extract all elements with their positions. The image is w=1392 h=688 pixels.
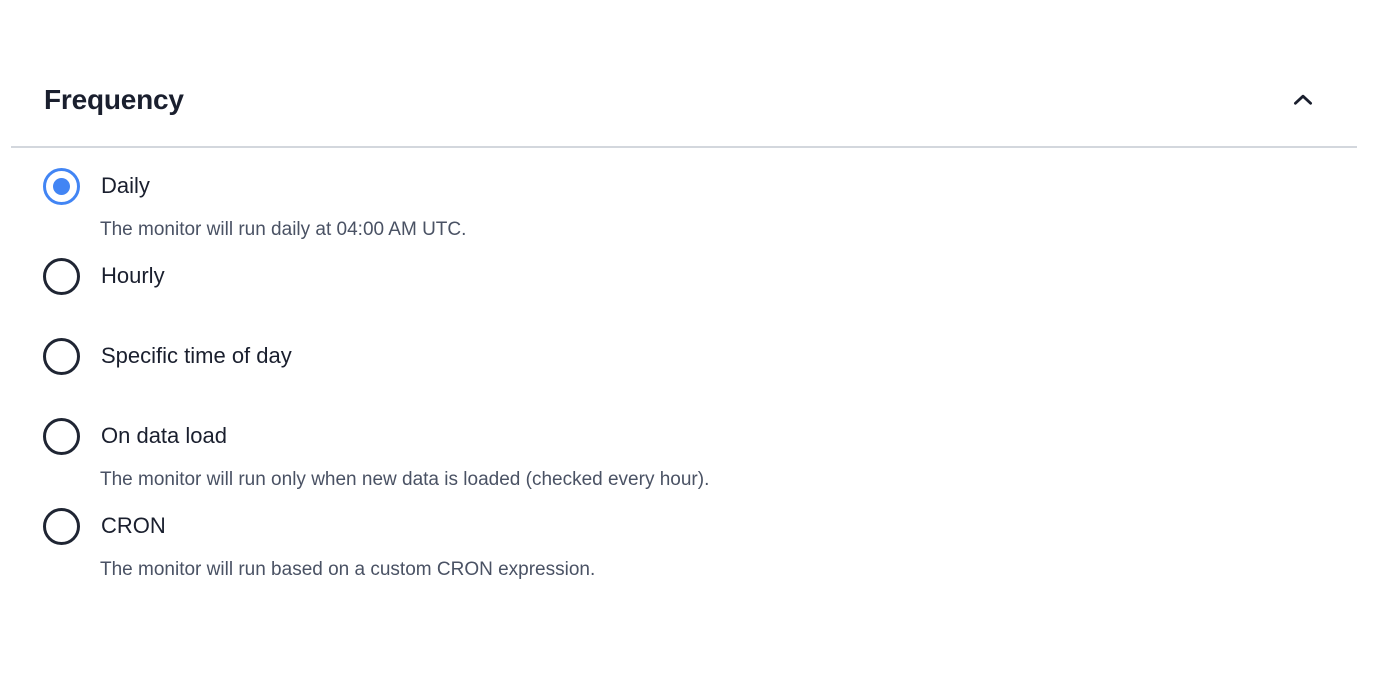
radio-option-cron[interactable]: CRON: [0, 500, 1392, 552]
radio-description-on-data-load: The monitor will run only when new data …: [0, 462, 1392, 500]
radio-indicator-hourly[interactable]: [43, 258, 80, 295]
frequency-panel-header: Frequency: [0, 66, 1392, 134]
option-block-hourly: Hourly: [0, 250, 1392, 330]
radio-option-daily[interactable]: Daily: [0, 160, 1392, 212]
radio-label-on-data-load: On data load: [101, 425, 227, 447]
radio-option-hourly[interactable]: Hourly: [0, 250, 1392, 302]
page-title: Frequency: [44, 86, 184, 114]
option-block-cron: CRON The monitor will run based on a cus…: [0, 500, 1392, 590]
radio-label-cron: CRON: [101, 515, 166, 537]
radio-option-specific-time-of-day[interactable]: Specific time of day: [0, 330, 1392, 382]
radio-indicator-on-data-load[interactable]: [43, 418, 80, 455]
option-spacer: [0, 382, 1392, 410]
radio-label-hourly: Hourly: [101, 265, 165, 287]
radio-description-daily: The monitor will run daily at 04:00 AM U…: [0, 212, 1392, 250]
frequency-panel: Frequency Daily The monitor will run dai…: [0, 0, 1392, 688]
option-spacer: [0, 302, 1392, 330]
radio-option-on-data-load[interactable]: On data load: [0, 410, 1392, 462]
radio-label-daily: Daily: [101, 175, 150, 197]
radio-description-cron: The monitor will run based on a custom C…: [0, 552, 1392, 590]
option-block-specific-time-of-day: Specific time of day: [0, 330, 1392, 410]
frequency-options-group: Daily The monitor will run daily at 04:0…: [0, 160, 1392, 590]
radio-label-specific-time-of-day: Specific time of day: [101, 345, 292, 367]
option-block-daily: Daily The monitor will run daily at 04:0…: [0, 160, 1392, 250]
header-divider: [11, 146, 1357, 148]
option-block-on-data-load: On data load The monitor will run only w…: [0, 410, 1392, 500]
radio-indicator-daily[interactable]: [43, 168, 80, 205]
radio-indicator-cron[interactable]: [43, 508, 80, 545]
radio-indicator-specific-time-of-day[interactable]: [43, 338, 80, 375]
collapse-section-button[interactable]: [1286, 83, 1320, 117]
chevron-up-icon: [1290, 87, 1316, 113]
